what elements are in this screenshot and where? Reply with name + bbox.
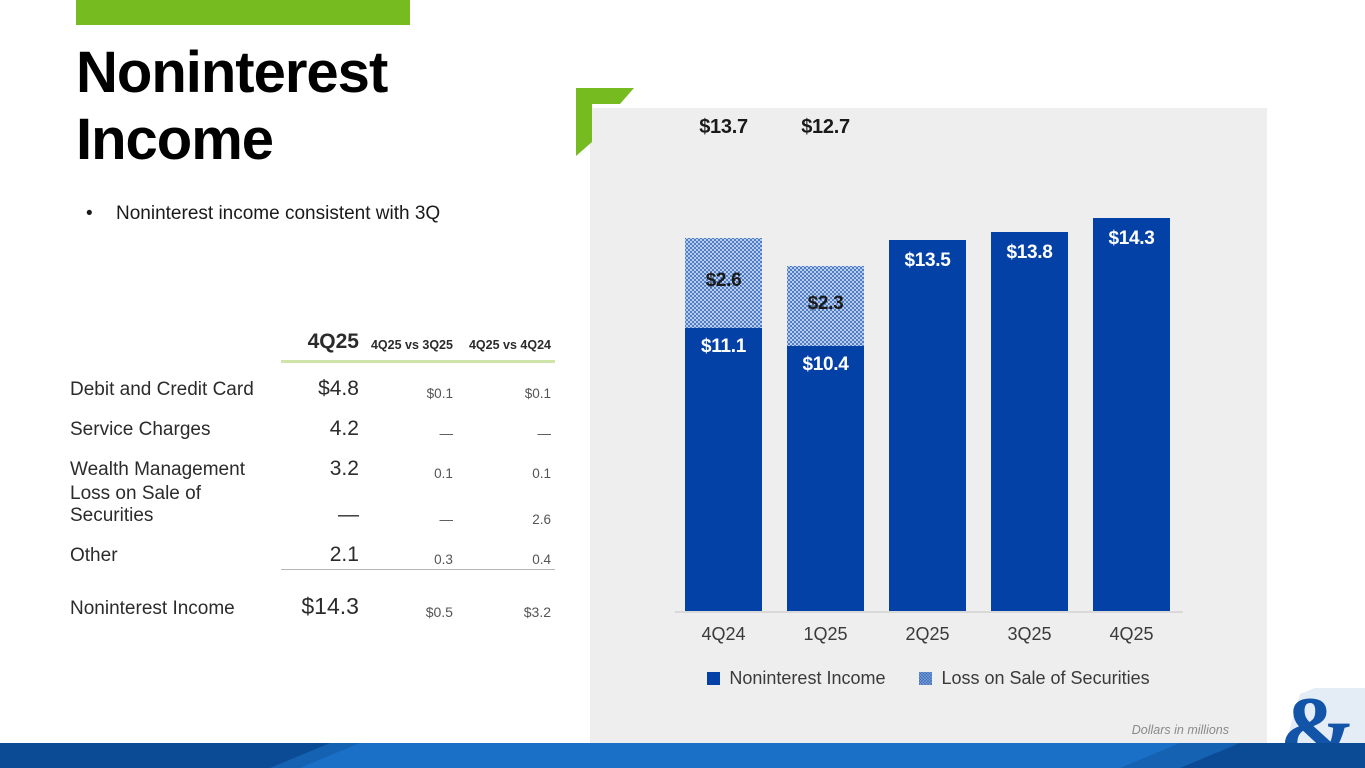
bar-segment-income-label: $11.1 <box>685 336 762 358</box>
bar-total-label: $12.7 <box>787 116 864 139</box>
row-label: Debit and Credit Card <box>70 363 281 403</box>
row-vs-4q24: — <box>465 403 555 443</box>
x-axis-tick-label: 3Q25 <box>991 624 1068 645</box>
column-header-vs-4q24: 4Q25 vs 4Q24 <box>465 330 555 360</box>
bar-segment-income[interactable]: $14.3 <box>1093 218 1170 611</box>
row-vs-3q25: — <box>367 483 465 529</box>
table-row: Other 2.1 0.3 0.4 <box>70 529 555 569</box>
row-vs-4q24: $0.1 <box>465 363 555 403</box>
table-row: Loss on Sale of Securities — — 2.6 <box>70 483 555 529</box>
x-axis-tick-label: 2Q25 <box>889 624 966 645</box>
bullet-list: • Noninterest income consistent with 3Q <box>86 200 566 229</box>
bottom-banner <box>0 743 1365 768</box>
bar-segment-income[interactable]: $13.8 <box>991 232 1068 611</box>
row-label: Other <box>70 529 281 569</box>
bar-segment-loss-label: $2.6 <box>685 270 762 292</box>
chart-plot-area: $13.7 $2.6 $11.1 $12.7 $2.3 $10.4 <box>590 108 1267 745</box>
bar-segment-loss[interactable]: $2.6 <box>685 238 762 328</box>
row-vs-3q25: 0.1 <box>367 443 465 483</box>
table-row: Service Charges 4.2 — — <box>70 403 555 443</box>
bar-segment-income-label: $13.5 <box>889 250 966 272</box>
table-row: Wealth Management 3.2 0.1 0.1 <box>70 443 555 483</box>
bar-segment-income-label: $13.8 <box>991 242 1068 264</box>
column-header-vs-3q25: 4Q25 vs 3Q25 <box>367 330 465 360</box>
row-label: Wealth Management <box>70 443 281 483</box>
page-title-line-1: Noninterest <box>76 40 576 107</box>
page-title: Noninterest Income <box>76 40 576 173</box>
row-current: 2.1 <box>281 529 367 569</box>
total-vs-4q24: $3.2 <box>465 570 555 620</box>
bar-segment-loss-label: $2.3 <box>787 293 864 315</box>
bar-group: $14.3 <box>1093 218 1170 611</box>
stacked-bar[interactable]: $2.6 $11.1 <box>685 238 762 611</box>
table-header-row: 4Q25 4Q25 vs 3Q25 4Q25 vs 4Q24 <box>70 330 555 360</box>
table-row: Debit and Credit Card $4.8 $0.1 $0.1 <box>70 363 555 403</box>
stacked-bar[interactable]: $2.3 $10.4 <box>787 266 864 611</box>
bar-segment-income-label: $14.3 <box>1093 228 1170 250</box>
chart-footnote: Dollars in millions <box>1132 723 1229 737</box>
table-body: Debit and Credit Card $4.8 $0.1 $0.1 Ser… <box>70 363 555 620</box>
bar-segment-loss[interactable]: $2.3 <box>787 266 864 346</box>
x-axis-tick-label: 4Q24 <box>685 624 762 645</box>
bar-group: $13.5 <box>889 240 966 611</box>
bullet-text: Noninterest income consistent with 3Q <box>116 200 440 229</box>
legend-label: Noninterest Income <box>729 668 885 689</box>
green-accent-bar <box>76 0 410 25</box>
page-title-line-2: Income <box>76 107 576 174</box>
row-vs-4q24: 0.1 <box>465 443 555 483</box>
total-vs-3q25: $0.5 <box>367 570 465 620</box>
row-vs-3q25: — <box>367 403 465 443</box>
bar-segment-income-label: $10.4 <box>787 354 864 376</box>
table-header: 4Q25 4Q25 vs 3Q25 4Q25 vs 4Q24 <box>70 330 555 363</box>
row-current: 3.2 <box>281 443 367 483</box>
chart-panel: $13.7 $2.6 $11.1 $12.7 $2.3 $10.4 <box>590 108 1267 745</box>
total-label: Noninterest Income <box>70 570 281 620</box>
legend-item-noninterest-income[interactable]: Noninterest Income <box>707 668 885 689</box>
green-corner-bracket-icon <box>576 88 634 156</box>
row-current: $4.8 <box>281 363 367 403</box>
bar-total-label: $13.7 <box>685 116 762 139</box>
bar-group: $13.7 $2.6 $11.1 <box>685 238 762 611</box>
legend-label: Loss on Sale of Securities <box>941 668 1149 689</box>
legend-swatch-hatch-icon <box>919 672 932 685</box>
row-label: Service Charges <box>70 403 281 443</box>
bar-segment-income[interactable]: $10.4 <box>787 346 864 611</box>
list-item: • Noninterest income consistent with 3Q <box>86 200 566 229</box>
column-header-current: 4Q25 <box>281 330 367 360</box>
row-vs-4q24: 0.4 <box>465 529 555 569</box>
bar-group: $12.7 $2.3 $10.4 <box>787 266 864 611</box>
stacked-bar[interactable]: $13.5 <box>889 240 966 611</box>
legend-item-loss-on-sale[interactable]: Loss on Sale of Securities <box>919 668 1149 689</box>
bar-segment-income[interactable]: $11.1 <box>685 328 762 611</box>
left-content-panel: Noninterest Income • Noninterest income … <box>0 0 590 768</box>
row-current: 4.2 <box>281 403 367 443</box>
row-vs-3q25: 0.3 <box>367 529 465 569</box>
bar-segment-income[interactable]: $13.5 <box>889 240 966 611</box>
chart-legend: Noninterest Income Loss on Sale of Secur… <box>590 668 1267 689</box>
stacked-bar[interactable]: $14.3 <box>1093 218 1170 611</box>
page-number: 8 <box>1285 722 1292 737</box>
bar-group: $13.8 <box>991 232 1068 611</box>
table-total-row: Noninterest Income $14.3 $0.5 $3.2 <box>70 570 555 620</box>
stacked-bar[interactable]: $13.8 <box>991 232 1068 611</box>
x-axis-tick-label: 1Q25 <box>787 624 864 645</box>
x-axis-tick-label: 4Q25 <box>1093 624 1170 645</box>
row-vs-3q25: $0.1 <box>367 363 465 403</box>
column-header-label <box>70 330 281 360</box>
row-label: Loss on Sale of Securities <box>70 483 281 529</box>
row-current: — <box>281 483 367 529</box>
chart-axis-line <box>675 611 1183 613</box>
metrics-table: 4Q25 4Q25 vs 3Q25 4Q25 vs 4Q24 Debit and… <box>70 330 555 620</box>
bullet-dot-icon: • <box>86 200 116 229</box>
total-current: $14.3 <box>281 570 367 620</box>
row-vs-4q24: 2.6 <box>465 483 555 529</box>
legend-swatch-solid-icon <box>707 672 720 685</box>
